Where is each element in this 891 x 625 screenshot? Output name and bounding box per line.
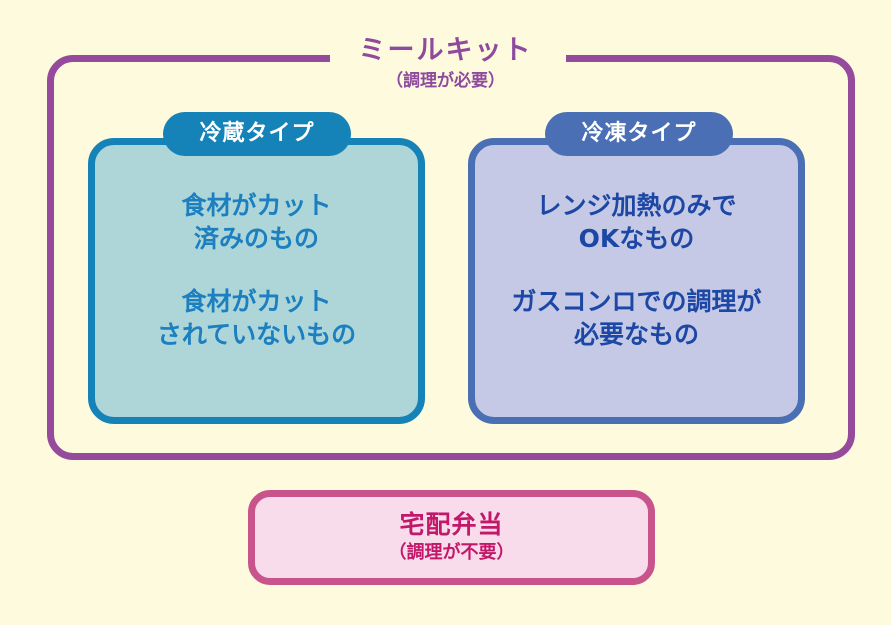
bento-box-card: 宅配弁当 （調理が不要） xyxy=(248,490,655,585)
card-chilled-entry-1: 食材がカット 済みのもの xyxy=(95,189,418,255)
badge-chilled-type: 冷蔵タイプ xyxy=(163,112,351,156)
card-frozen-type: レンジ加熱のみで OKなもの ガスコンロでの調理が 必要なもの xyxy=(468,138,805,424)
badge-frozen-type: 冷凍タイプ xyxy=(545,112,733,156)
bento-box-subtitle: （調理が不要） xyxy=(389,542,515,564)
card-chilled-type: 食材がカット 済みのもの 食材がカット されていないもの xyxy=(88,138,425,424)
card-frozen-entry-1: レンジ加熱のみで OKなもの xyxy=(475,189,798,255)
meal-kit-title: ミールキット xyxy=(0,36,891,66)
card-chilled-entry-2: 食材がカット されていないもの xyxy=(95,285,418,351)
card-chilled-entry-spacer xyxy=(95,255,418,285)
meal-kit-subtitle: （調理が必要） xyxy=(0,72,891,91)
card-chilled-body: 食材がカット 済みのもの 食材がカット されていないもの xyxy=(95,189,418,351)
card-frozen-entry-spacer xyxy=(475,255,798,285)
bento-box-title: 宅配弁当 xyxy=(399,511,503,540)
card-frozen-body: レンジ加熱のみで OKなもの ガスコンロでの調理が 必要なもの xyxy=(475,189,798,351)
card-frozen-entry-2: ガスコンロでの調理が 必要なもの xyxy=(475,285,798,351)
diagram-canvas: ミールキット （調理が必要） 食材がカット 済みのもの 食材がカット されていな… xyxy=(0,0,891,625)
